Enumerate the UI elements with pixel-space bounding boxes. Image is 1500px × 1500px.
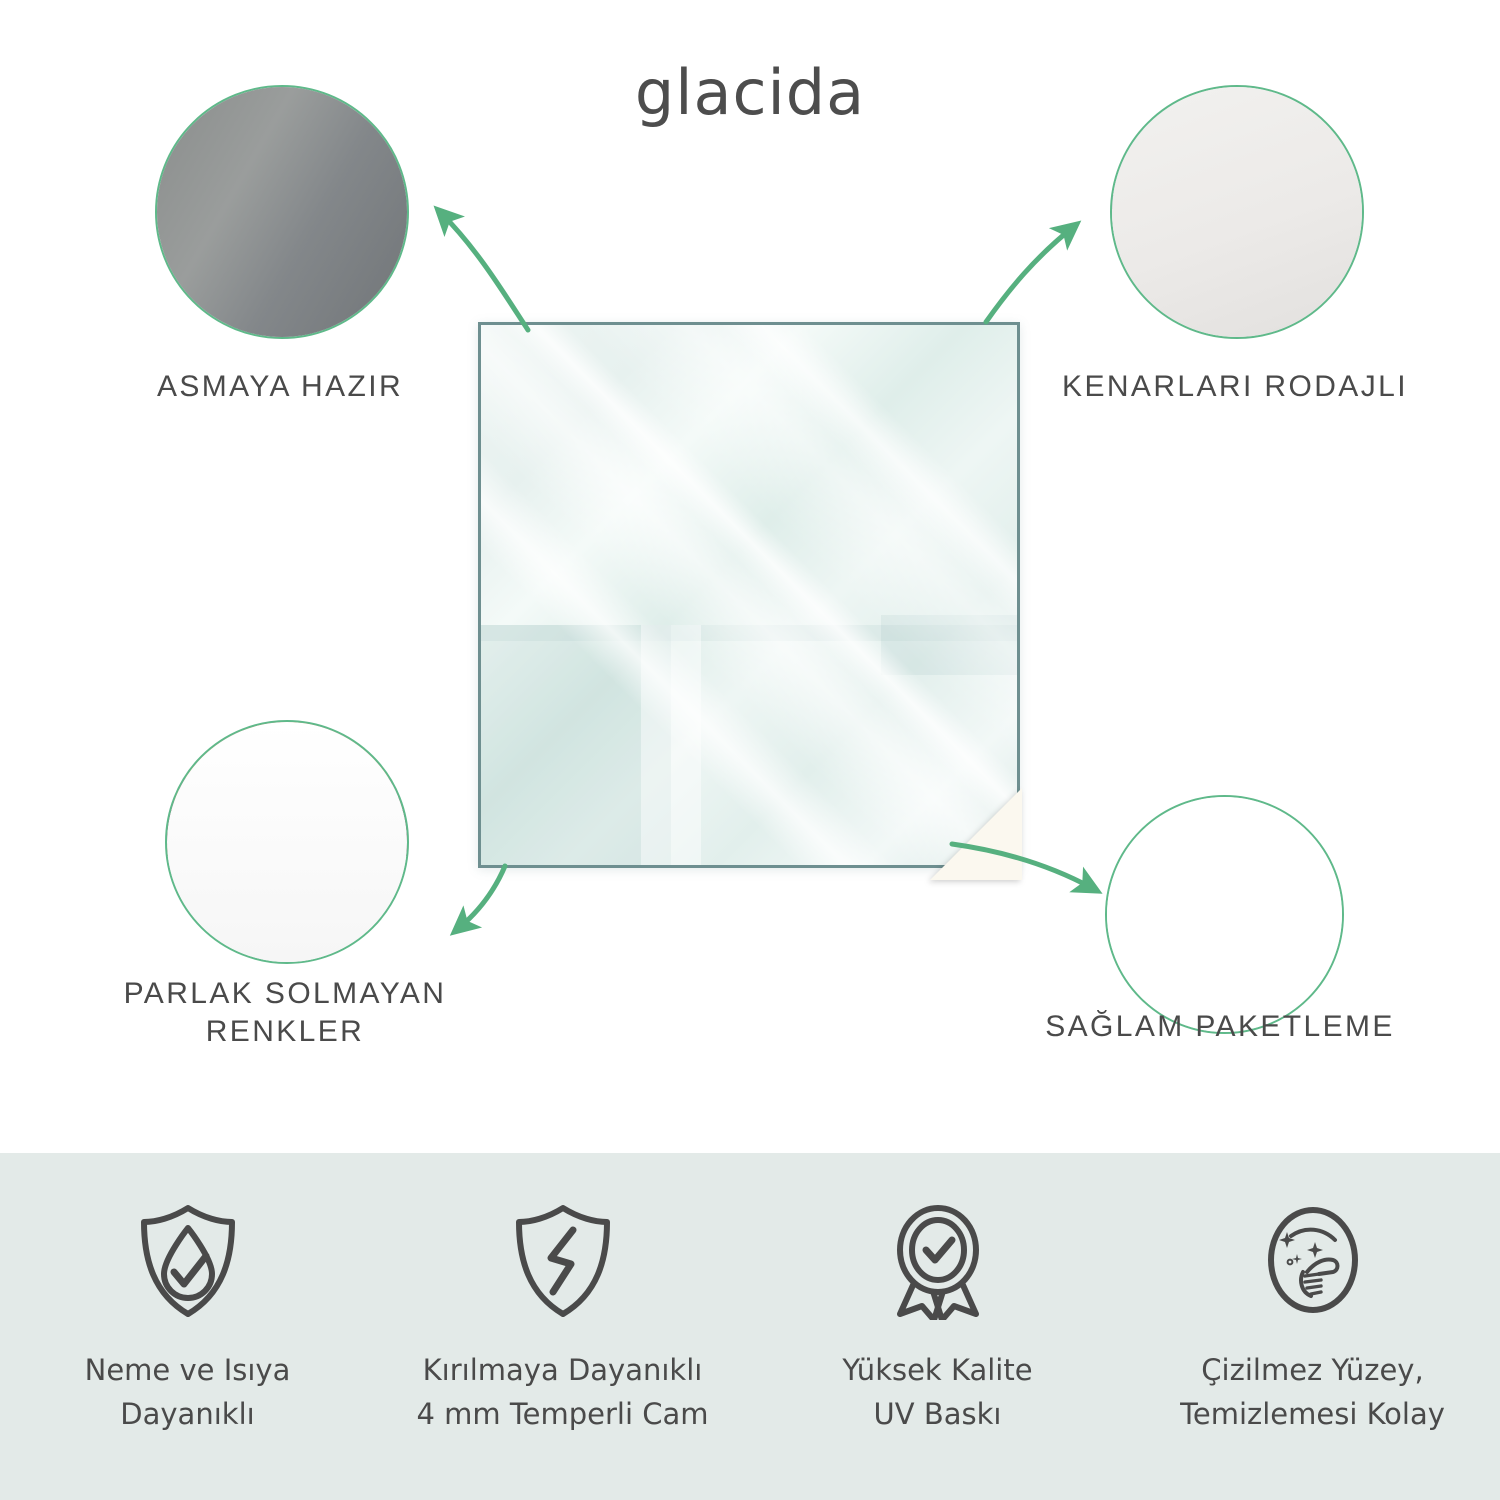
feature-strip: Neme ve Isıya Dayanıklı Kırılmaya Dayanı… <box>0 1153 1500 1500</box>
arrow-to-edge <box>986 228 1072 322</box>
glass-shade-right <box>881 615 1020 675</box>
shield-lightning-icon <box>507 1201 619 1321</box>
product-glass-panel <box>478 322 1020 868</box>
feature-scratch-free: Çizilmez Yüzey, Temizlemesi Kolay <box>1125 1153 1500 1500</box>
glass-reflection-streak <box>478 322 1020 868</box>
feature-label: Yüksek Kalite UV Baskı <box>842 1349 1032 1436</box>
shield-waterdrop-check-icon <box>132 1201 244 1321</box>
wall-mount-bracket-photo <box>157 87 407 337</box>
feature-caption-colors: PARLAK SOLMAYAN RENKLER <box>65 975 505 1052</box>
glass-reflection-streak <box>478 322 1020 868</box>
feature-caption-hanging: ASMAYA HAZIR <box>60 368 500 406</box>
polished-glass-edge-photo <box>1112 87 1362 337</box>
feature-break-resistant: Kırılmaya Dayanıklı 4 mm Temperli Cam <box>375 1153 750 1500</box>
feature-bubble-edge <box>1110 85 1364 339</box>
glass-surface <box>478 322 1020 868</box>
arrow-to-hanging <box>442 214 528 330</box>
feature-moisture-heat: Neme ve Isıya Dayanıklı <box>0 1153 375 1500</box>
feature-label: Neme ve Isıya Dayanıklı <box>85 1349 291 1436</box>
glass-reflection-streak <box>478 322 1020 868</box>
peeled-corner-icon <box>930 788 1022 880</box>
feature-high-quality-uv: Yüksek Kalite UV Baskı <box>750 1153 1125 1500</box>
feature-bubble-hanging <box>155 85 409 339</box>
feature-label: Çizilmez Yüzey, Temizlemesi Kolay <box>1180 1349 1445 1436</box>
feature-label: Kırılmaya Dayanıklı 4 mm Temperli Cam <box>416 1349 708 1436</box>
stained-glass-print-photo <box>167 722 407 962</box>
feature-caption-edge: KENARLARI RODAJLI <box>1015 368 1455 406</box>
feature-caption-pack: SAĞLAM PAKETLEME <box>1000 1008 1440 1046</box>
arrow-to-colors <box>459 866 505 928</box>
feature-bubble-pack <box>1105 795 1344 1034</box>
glass-reflection-streak <box>550 322 1020 868</box>
award-ribbon-check-icon <box>882 1201 994 1321</box>
glass-shade-band <box>481 625 1020 641</box>
glass-reflection-streak <box>478 322 1020 868</box>
flat-cardboard-box-photo <box>1107 797 1342 1032</box>
sparkle-cleaning-hand-icon <box>1257 1201 1369 1321</box>
glass-shade-strip <box>641 625 701 868</box>
feature-bubble-colors <box>165 720 409 964</box>
glass-shade-left <box>481 625 671 868</box>
